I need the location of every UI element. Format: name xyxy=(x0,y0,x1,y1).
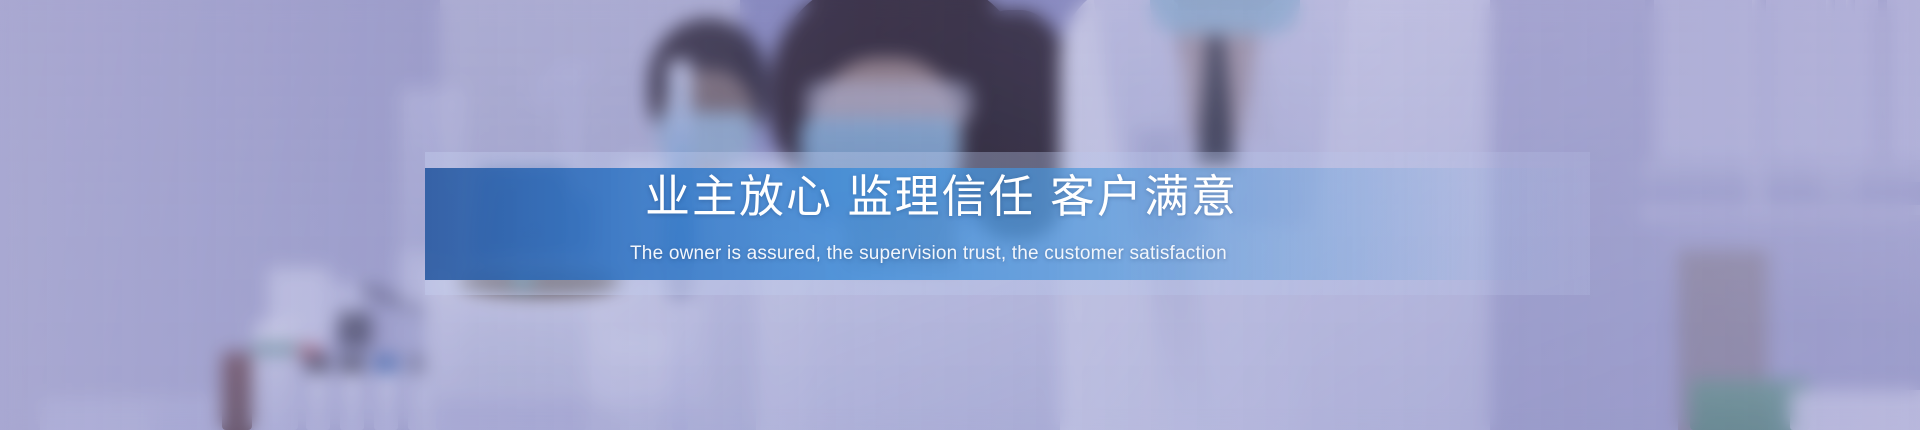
caption-text-group: 业主放心 监理信任 客户满意 The owner is assured, the… xyxy=(425,152,1590,295)
banner-subline: The owner is assured, the supervision tr… xyxy=(630,244,1227,263)
hero-banner: 业主放心 监理信任 客户满意 The owner is assured, the… xyxy=(0,0,1920,430)
banner-headline: 业主放心 监理信任 客户满意 xyxy=(645,174,1238,219)
